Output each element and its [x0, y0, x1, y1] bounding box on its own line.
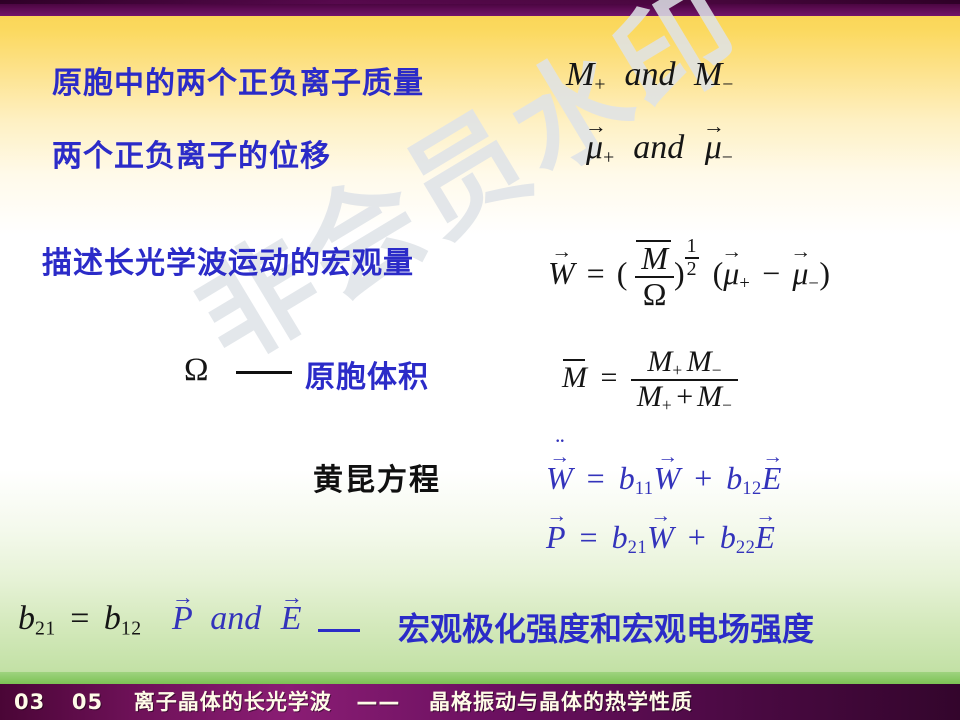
- symbol-M-minus: M: [694, 56, 722, 93]
- omega-dash: [228, 352, 300, 387]
- word-and-2: and: [633, 129, 684, 166]
- symbol-M-plus-2: M: [637, 380, 662, 413]
- footer-title: 03 05 离子晶体的长光学波 —— 晶格振动与晶体的热学性质: [14, 686, 693, 716]
- symbol-b12-right: b: [104, 600, 121, 637]
- symbol-b12: b: [726, 460, 742, 496]
- word-and-3: and: [210, 600, 261, 637]
- word-and-1: and: [624, 56, 675, 93]
- exponent-numerator: 1: [685, 236, 699, 257]
- symbol-M-plus: M: [647, 345, 672, 378]
- fraction-M-over-Omega: M Ω: [635, 242, 674, 312]
- symbol-omega: Ω: [635, 276, 674, 312]
- operator-plus: +: [694, 460, 712, 496]
- subscript-minus: −: [722, 74, 734, 96]
- symbol-omega-definition: Ω: [184, 352, 209, 389]
- top-decoration-bar: [0, 0, 960, 16]
- bottom-dash: [310, 610, 368, 645]
- symbol-M-minus: M: [687, 345, 712, 378]
- symbol-M-bar: M: [635, 242, 674, 276]
- subscript-11: 11: [635, 478, 654, 499]
- formula-huang-second: P = b21W + b22E: [546, 519, 775, 559]
- footer-section: 05: [72, 690, 103, 714]
- operator-equals: =: [70, 600, 89, 637]
- formula-macroscopic-W: W = ( M Ω )12 (μ+ − μ−): [548, 236, 830, 312]
- subscript-22: 22: [736, 537, 756, 558]
- subscript-plus: +: [662, 395, 672, 415]
- label-ion-masses: 原胞中的两个正负离子质量: [52, 58, 424, 102]
- symbol-W-ddot-vector: W: [546, 460, 573, 497]
- paren-close: ): [674, 255, 685, 291]
- operator-equals: =: [587, 460, 605, 496]
- em-dash-icon-2: [318, 629, 360, 632]
- footer-topic: 离子晶体的长光学波: [134, 690, 332, 714]
- subscript-12: 12: [121, 618, 142, 640]
- paren-open: (: [617, 255, 628, 291]
- symbol-W-vector: W: [548, 255, 575, 292]
- subscript-plus: +: [594, 74, 606, 96]
- subscript-21: 21: [628, 537, 648, 558]
- em-dash-icon: [236, 371, 292, 374]
- symbol-W-vector-3: W: [647, 519, 674, 556]
- subscript-12: 12: [742, 478, 762, 499]
- formula-b-symmetry: b21 = b12: [18, 600, 142, 641]
- subscript-plus: +: [603, 147, 615, 169]
- formula-P-and-E: P and E: [172, 600, 302, 638]
- symbol-mu-plus-2: μ: [723, 255, 739, 292]
- operator-plus: +: [676, 380, 693, 413]
- subscript-minus: −: [722, 395, 732, 415]
- fraction-reduced-mass: M+M− M++M−: [631, 346, 739, 415]
- exponent-denominator: 2: [685, 257, 699, 280]
- subscript-plus: +: [672, 360, 682, 380]
- symbol-M-plus: M: [566, 56, 594, 93]
- label-polarization-and-field: 宏观极化强度和宏观电场强度: [398, 604, 814, 650]
- exponent-one-half: 12: [685, 236, 699, 280]
- operator-plus: +: [688, 519, 706, 555]
- top-bar-sheen: [0, 0, 960, 4]
- formula-huang-first: W = b11W + b12E: [546, 460, 781, 500]
- symbol-mu-plus: μ: [586, 129, 603, 167]
- footer-subtitle: 晶格振动与晶体的热学性质: [429, 690, 693, 714]
- formula-ion-masses: M+ and M−: [566, 56, 734, 97]
- operator-equals: =: [580, 519, 598, 555]
- symbol-b21: b: [612, 519, 628, 555]
- symbol-E-vector-2: E: [755, 519, 775, 556]
- footer-chapter: 03: [14, 690, 45, 714]
- symbol-mu-minus-2: μ: [792, 255, 808, 292]
- label-ion-displacement: 两个正负离子的位移: [52, 131, 331, 175]
- symbol-omega: Ω: [184, 352, 209, 388]
- subscript-minus: −: [808, 273, 819, 294]
- label-macroscopic-quantity: 描述长光学波运动的宏观量: [42, 238, 414, 282]
- symbol-E-vector-3: E: [281, 600, 302, 638]
- slide-canvas: 非会员水印 原胞中的两个正负离子质量 M+ and M− 两个正负离子的位移 μ…: [0, 0, 960, 720]
- operator-minus: −: [762, 255, 780, 291]
- operator-equals: =: [601, 361, 618, 394]
- label-primitive-cell-volume: 原胞体积: [305, 352, 429, 396]
- footer-separator: ——: [356, 690, 400, 714]
- subscript-plus: +: [739, 273, 750, 294]
- symbol-b11: b: [619, 460, 635, 496]
- symbol-b21-left: b: [18, 600, 35, 637]
- subscript-minus: −: [722, 147, 734, 169]
- operator-equals: =: [587, 255, 605, 291]
- symbol-M-minus-2: M: [697, 380, 722, 413]
- green-divider-strip: [0, 672, 960, 684]
- paren-close-2: ): [819, 255, 830, 291]
- label-huang-equations: 黄昆方程: [313, 455, 441, 499]
- symbol-E-vector: E: [762, 460, 782, 497]
- symbol-P-vector-2: P: [172, 600, 193, 638]
- fraction-numerator: M+M−: [631, 346, 739, 379]
- fraction-denominator: M++M−: [631, 379, 739, 414]
- subscript-21: 21: [35, 618, 56, 640]
- subscript-minus: −: [712, 360, 722, 380]
- symbol-M-bar-2: M: [562, 361, 587, 395]
- symbol-W-vector-2: W: [654, 460, 681, 497]
- formula-ion-displacement: μ+ and μ−: [586, 129, 733, 170]
- symbol-mu-minus: μ: [705, 129, 722, 167]
- symbol-b22: b: [720, 519, 736, 555]
- formula-reduced-mass: M = M+M− M++M−: [562, 346, 738, 415]
- symbol-P-vector: P: [546, 519, 566, 556]
